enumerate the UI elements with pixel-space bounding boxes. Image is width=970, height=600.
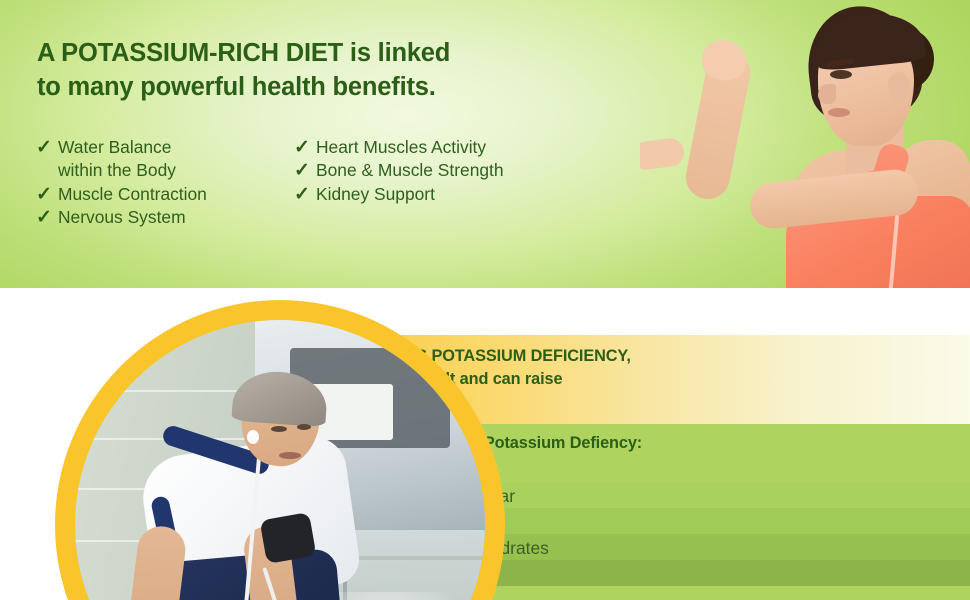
fist-shape xyxy=(702,40,746,80)
list-item: ✓ Water Balance xyxy=(36,136,266,159)
list-item-label: Muscle Contraction xyxy=(58,183,207,206)
eye-shape xyxy=(830,70,852,79)
infographic-canvas: A POTASSIUM-RICH DIET is linked to many … xyxy=(0,0,970,600)
runner-eye-left xyxy=(271,426,287,432)
light-flare xyxy=(325,592,475,600)
check-icon: ✓ xyxy=(36,136,58,159)
lips-shape xyxy=(828,108,850,117)
deficiency-panel: WHEN THERE IS POTASSIUM DEFICIENCY, the … xyxy=(0,288,970,600)
ear-shape xyxy=(888,72,910,100)
nose-shape xyxy=(818,84,836,104)
list-item: ✓ Nervous System xyxy=(36,206,266,229)
list-item: ✓ Heart Muscles Activity xyxy=(294,136,566,159)
page-title: A POTASSIUM-RICH DIET is linked to many … xyxy=(37,36,597,104)
armband-phone-holder xyxy=(260,512,317,564)
list-item: ✓ within the Body xyxy=(36,159,266,182)
woman-stretching-photo xyxy=(640,0,970,288)
list-item-label: Kidney Support xyxy=(316,183,435,206)
list-item-label: Heart Muscles Activity xyxy=(316,136,486,159)
headline-line-1: A POTASSIUM-RICH DIET is linked xyxy=(37,39,450,67)
check-icon: ✓ xyxy=(36,206,58,229)
runner-photo xyxy=(75,320,485,600)
list-item: ✓ Kidney Support xyxy=(294,183,566,206)
check-icon: ✓ xyxy=(294,136,316,159)
runner-photo-circle xyxy=(55,300,505,600)
benefits-list: ✓ Water Balance ✓ within the Body ✓ Musc… xyxy=(36,136,596,229)
list-item-label: Bone & Muscle Strength xyxy=(316,159,504,182)
benefits-panel: A POTASSIUM-RICH DIET is linked to many … xyxy=(0,0,970,288)
check-icon: ✓ xyxy=(294,159,316,182)
list-item-label: within the Body xyxy=(58,159,176,182)
benefits-column-left: ✓ Water Balance ✓ within the Body ✓ Musc… xyxy=(36,136,266,229)
list-item-label: Water Balance xyxy=(58,136,171,159)
check-icon: ✓ xyxy=(294,183,316,206)
list-item-label: Nervous System xyxy=(58,206,186,229)
earbud xyxy=(247,430,259,444)
headline-line-2: to many powerful health benefits. xyxy=(37,70,597,104)
runner-mouth xyxy=(279,452,301,459)
benefits-column-right: ✓ Heart Muscles Activity ✓ Bone & Muscle… xyxy=(276,136,566,229)
list-item: ✓ Muscle Contraction xyxy=(36,183,266,206)
list-item: ✓ Bone & Muscle Strength xyxy=(294,159,566,182)
check-icon: ✓ xyxy=(36,183,58,206)
runner-eye-right xyxy=(297,424,311,430)
